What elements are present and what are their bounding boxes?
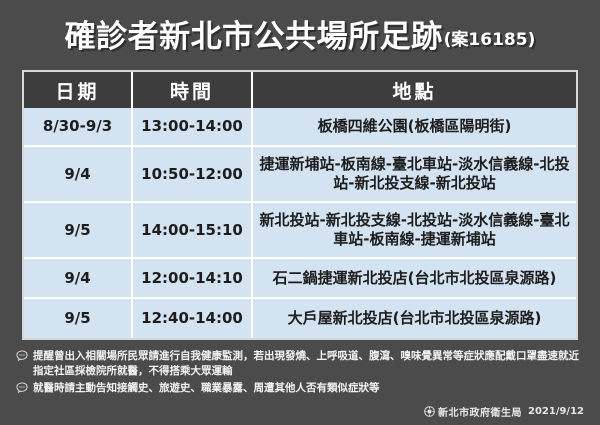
cell-time: 13:00-14:00: [132, 108, 252, 146]
footer-signature: 新北市政府衛生局 2021/9/12: [424, 404, 584, 419]
cell-place: 板橋四維公園(板橋區陽明街): [252, 108, 576, 146]
table-row: 8/30-9/3 13:00-14:00 板橋四維公園(板橋區陽明街): [24, 108, 576, 146]
note-text: 提醒曾出入相關場所民眾請進行自我健康監測，若出現發燒、上呼吸道、腹瀉、嗅味覺異常…: [33, 349, 586, 379]
cell-place: 捷運新埔站-板南線-臺北車站-淡水信義線-北投站-新北投支線-新北投站: [252, 146, 576, 202]
table-row: 9/5 12:40-14:00 大戶屋新北投店(台北市北投區泉源路): [24, 298, 576, 338]
trace-table: 日期 時間 地點 8/30-9/3 13:00-14:00 板橋四維公園(板橋區…: [24, 72, 576, 338]
note-item: 就醫時請主動告知接觸史、旅遊史、職業暴露、周遭其他人否有類似症狀等: [14, 381, 586, 396]
poster-root: 確診者新北市公共場所足跡(案16185) 日期 時間 地點 8/30-9/3 1…: [0, 0, 600, 425]
cell-date: 9/4: [24, 146, 132, 202]
column-header-place: 地點: [252, 72, 576, 108]
speech-bubble-icon: [16, 382, 28, 394]
signature-date: 2021/9/12: [528, 406, 584, 417]
notes-section: 提醒曾出入相關場所民眾請進行自我健康監測，若出現發燒、上呼吸道、腹瀉、嗅味覺異常…: [14, 349, 586, 398]
speech-bubble-icon: [16, 350, 28, 362]
column-header-time: 時間: [132, 72, 252, 108]
page-title: 確診者新北市公共場所足跡(案16185): [0, 0, 600, 70]
signature-organization: 新北市政府衛生局: [438, 404, 522, 419]
note-text: 就醫時請主動告知接觸史、旅遊史、職業暴露、周遭其他人否有類似症狀等: [33, 381, 586, 396]
cell-date: 9/5: [24, 202, 132, 258]
cell-date: 9/5: [24, 298, 132, 338]
trace-table-container: 日期 時間 地點 8/30-9/3 13:00-14:00 板橋四維公園(板橋區…: [22, 70, 578, 340]
table-row: 9/5 14:00-15:10 新北投站-新北投支線-北投站-淡水信義線-臺北車…: [24, 202, 576, 258]
note-item: 提醒曾出入相關場所民眾請進行自我健康監測，若出現發燒、上呼吸道、腹瀉、嗅味覺異常…: [14, 349, 586, 379]
government-seal-icon: [424, 406, 435, 417]
table-row: 9/4 12:00-14:10 石二鍋捷運新北投店(台北市北投區泉源路): [24, 258, 576, 298]
page-title-main: 確診者新北市公共場所足跡: [65, 22, 443, 53]
cell-time: 10:50-12:00: [132, 146, 252, 202]
column-header-date: 日期: [24, 72, 132, 108]
cell-date: 9/4: [24, 258, 132, 298]
table-body: 8/30-9/3 13:00-14:00 板橋四維公園(板橋區陽明街) 9/4 …: [24, 108, 576, 338]
cell-time: 12:00-14:10: [132, 258, 252, 298]
table-header: 日期 時間 地點: [24, 72, 576, 108]
cell-time: 12:40-14:00: [132, 298, 252, 338]
page-title-case-number: (案16185): [444, 25, 536, 50]
table-row: 9/4 10:50-12:00 捷運新埔站-板南線-臺北車站-淡水信義線-北投站…: [24, 146, 576, 202]
cell-time: 14:00-15:10: [132, 202, 252, 258]
table-header-row: 日期 時間 地點: [24, 72, 576, 108]
cell-place: 石二鍋捷運新北投店(台北市北投區泉源路): [252, 258, 576, 298]
cell-date: 8/30-9/3: [24, 108, 132, 146]
cell-place: 大戶屋新北投店(台北市北投區泉源路): [252, 298, 576, 338]
cell-place: 新北投站-新北投支線-北投站-淡水信義線-臺北車站-板南線-捷運新埔站: [252, 202, 576, 258]
